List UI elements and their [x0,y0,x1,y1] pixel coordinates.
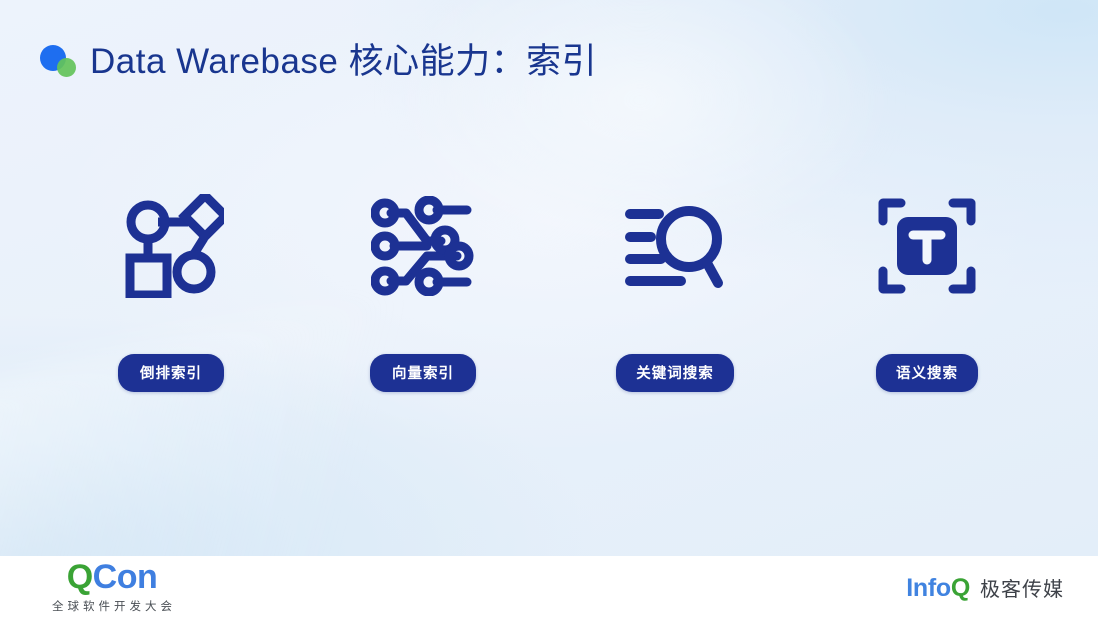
text-scan-icon [877,186,977,306]
infoq-logo: InfoQ 极客传媒 [906,573,1074,602]
brand-dot-icon [40,44,76,80]
circuit-network-icon [371,186,475,306]
search-lines-icon [623,186,727,306]
capability-card-keyword-search[interactable]: 关键词搜索 [591,186,759,392]
infoq-letter-q: Q [951,574,970,602]
qcon-logo: QCon 全球软件开发大会 [48,560,176,614]
capability-card-row: 倒排索引 [0,186,1098,392]
brand-dot-green-circle [57,58,76,77]
node-graph-icon [118,186,224,306]
qcon-letters-con: Con [93,558,158,596]
qcon-subtitle: 全球软件开发大会 [48,598,176,614]
slide-header: Data Warebase 核心能力：索引 [40,42,597,82]
qcon-letter-q: Q [67,558,93,596]
slide-canvas: Data Warebase 核心能力：索引 倒排索引 [0,0,1098,618]
infoq-chinese-name: 极客传媒 [980,573,1064,602]
infoq-letters-info: Info [906,574,951,602]
capability-label: 语义搜索 [876,354,978,392]
capability-label: 向量索引 [370,354,476,392]
capability-label: 倒排索引 [118,354,224,392]
capability-label: 关键词搜索 [616,354,734,392]
page-title: Data Warebase 核心能力：索引 [90,42,597,82]
capability-card-vector-index[interactable]: 向量索引 [339,186,507,392]
infoq-wordmark: InfoQ [906,576,970,601]
slide-footer: QCon 全球软件开发大会 InfoQ 极客传媒 [0,556,1098,618]
qcon-wordmark: QCon [67,560,158,594]
capability-card-semantic-search[interactable]: 语义搜索 [843,186,1011,392]
capability-card-inverted-index[interactable]: 倒排索引 [87,186,255,392]
